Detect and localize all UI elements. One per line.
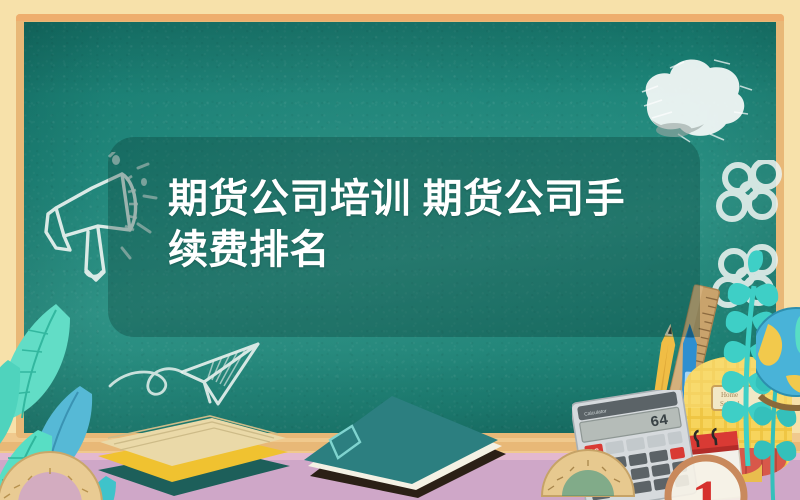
chalkboard-frame-highlight — [16, 14, 784, 21]
page-title: 期货公司培训 期货公司手续费排名 — [168, 174, 648, 276]
desk-surface-wood-shadow — [0, 442, 800, 451]
title-block: 期货公司培训 期货公司手续费排名 — [168, 174, 648, 276]
desk-surface-lavender — [0, 455, 800, 500]
poster-canvas: Home School — [0, 0, 800, 500]
